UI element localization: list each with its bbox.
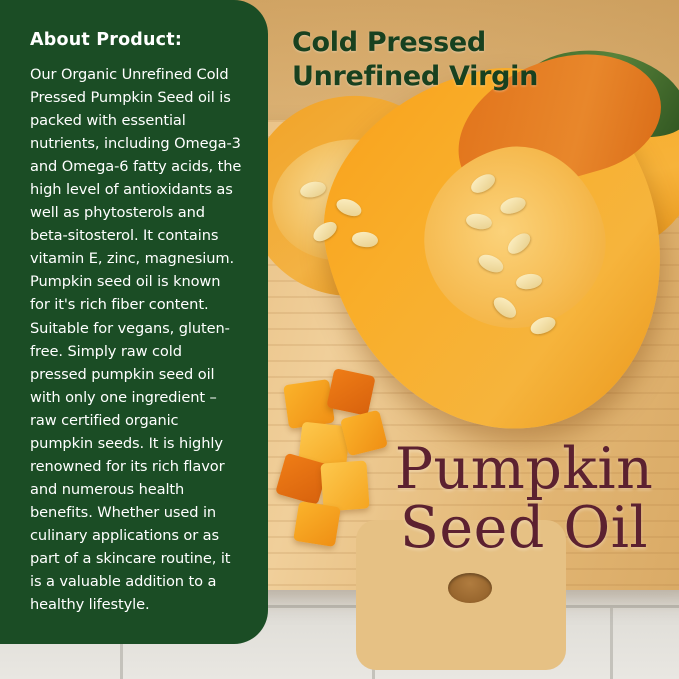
headline-line-1: Cold Pressed [292, 26, 662, 60]
headline-line-2: Unrefined Virgin [292, 60, 662, 94]
product-name-line-1: Pumpkin [395, 436, 654, 502]
product-name-line-2: Seed Oil [374, 499, 674, 558]
product-image: Cold Pressed Unrefined Virgin Pumpkin Se… [0, 0, 679, 679]
pumpkin-cube [320, 460, 369, 511]
about-product-title: About Product: [30, 30, 242, 50]
headline: Cold Pressed Unrefined Virgin [292, 26, 662, 94]
about-product-panel: About Product: Our Organic Unrefined Col… [0, 0, 268, 644]
cutting-board-hole [448, 573, 492, 603]
pumpkin-cube [326, 368, 375, 416]
about-product-body: Our Organic Unrefined Cold Pressed Pumpk… [30, 63, 242, 616]
pumpkin-cube [293, 501, 341, 547]
product-name: Pumpkin Seed Oil [374, 440, 674, 559]
